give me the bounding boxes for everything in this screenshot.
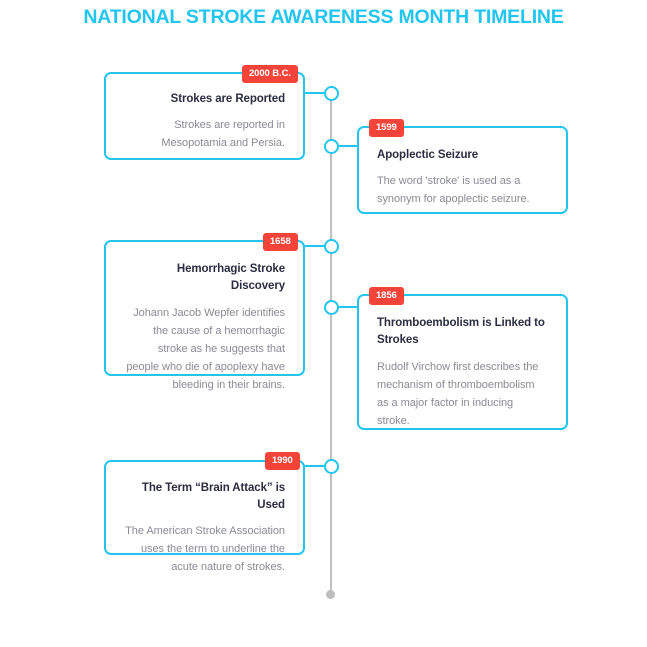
timeline-node-2: [324, 139, 339, 154]
timeline-card-5[interactable]: The Term “Brain Attack” is Used The Amer…: [104, 460, 305, 555]
timeline-connector-4: [338, 306, 359, 308]
timeline-node-3: [324, 239, 339, 254]
timeline-card-title: Hemorrhagic Stroke Discovery: [124, 261, 285, 295]
timeline-node-1: [324, 86, 339, 101]
timeline-year-badge-5: 1990: [265, 452, 300, 470]
timeline-infographic: National Stroke Awareness Month Timeline…: [0, 0, 647, 647]
timeline-card-description: Strokes are reported in Mesopotamia and …: [124, 116, 285, 152]
timeline-card-3[interactable]: Hemorrhagic Stroke Discovery Johann Jaco…: [104, 240, 305, 376]
timeline-card-title: The Term “Brain Attack” is Used: [124, 480, 285, 514]
timeline-card-description: The word 'stroke' is used as a synonym f…: [377, 172, 548, 208]
page-title: National Stroke Awareness Month Timeline: [0, 6, 647, 29]
timeline-spine: [330, 86, 332, 594]
timeline-end-dot: [326, 590, 335, 599]
timeline-connector-2: [338, 145, 359, 147]
timeline-node-5: [324, 459, 339, 474]
timeline-year-badge-2: 1599: [369, 119, 404, 137]
timeline-year-badge-3: 1658: [263, 233, 298, 251]
timeline-card-description: The American Stroke Association uses the…: [124, 522, 285, 576]
timeline-year-badge-1: 2000 B.C.: [242, 65, 298, 83]
timeline-connector-3: [305, 245, 325, 247]
timeline-card-title: Apoplectic Seizure: [377, 147, 548, 164]
timeline-connector-1: [305, 92, 325, 94]
timeline-year-badge-4: 1856: [369, 287, 404, 305]
timeline-card-description: Johann Jacob Wepfer identifies the cause…: [124, 304, 285, 394]
timeline-card-1[interactable]: Strokes are Reported Strokes are reporte…: [104, 72, 305, 160]
timeline-node-4: [324, 300, 339, 315]
timeline-card-4[interactable]: Thromboembolism is Linked to Strokes Rud…: [357, 294, 568, 430]
timeline-connector-5: [305, 465, 325, 467]
timeline-card-title: Thromboembolism is Linked to Strokes: [377, 315, 548, 349]
timeline-card-description: Rudolf Virchow first describes the mecha…: [377, 358, 548, 430]
timeline-card-2[interactable]: Apoplectic Seizure The word 'stroke' is …: [357, 126, 568, 214]
timeline-card-title: Strokes are Reported: [124, 91, 285, 108]
